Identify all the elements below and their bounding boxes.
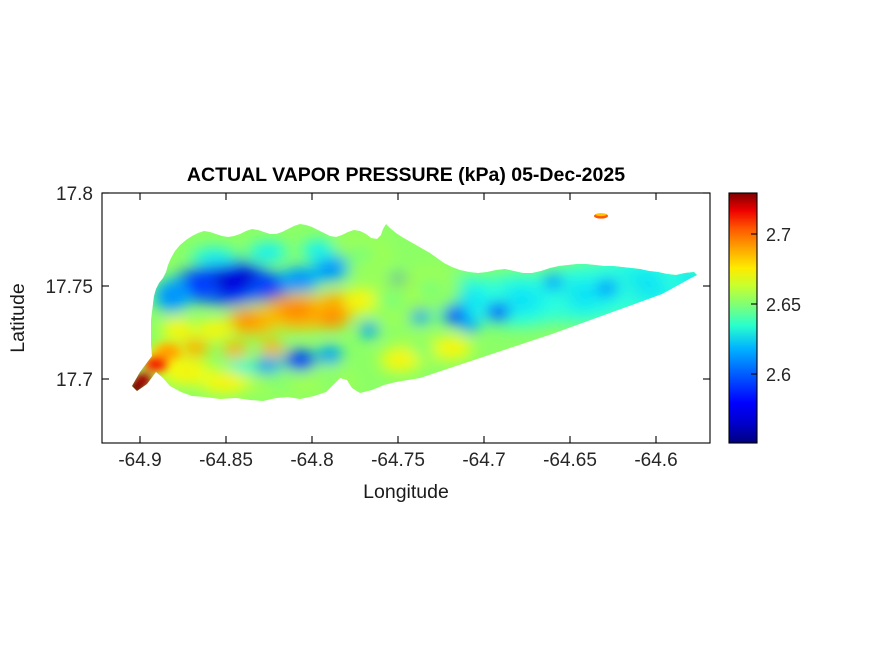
x-tick-label: -64.8: [290, 450, 333, 471]
x-tick-label: -64.6: [634, 450, 677, 471]
x-tick-label: -64.9: [118, 450, 161, 471]
y-tick-label: 17.7: [56, 370, 93, 391]
x-tick-label: -64.65: [543, 450, 597, 471]
page-title: ACTUAL VAPOR PRESSURE (kPa) 05-Dec-2025: [187, 164, 625, 186]
colorbar-gradient[interactable]: [729, 193, 757, 443]
buck-island-speck: [594, 213, 608, 218]
x-tick-label: -64.85: [199, 450, 253, 471]
y-tick-label: 17.8: [56, 184, 93, 205]
x-tick-labels: -64.9 -64.85 -64.8 -64.75 -64.7 -64.65 -…: [118, 450, 677, 471]
x-tick-label: -64.7: [462, 450, 505, 471]
y-tick-label: 17.75: [45, 277, 93, 298]
x-axis-label: Longitude: [363, 481, 449, 503]
colorbar-tick-label: 2.6: [766, 365, 791, 385]
x-tick-label: -64.75: [371, 450, 425, 471]
colorbar-tick-label: 2.65: [766, 295, 801, 315]
vapor-pressure-figure: ACTUAL VAPOR PRESSURE (kPa) 05-Dec-2025: [0, 0, 875, 656]
y-axis-label: Latitude: [7, 283, 29, 352]
colorbar-tick-label: 2.7: [766, 225, 791, 245]
